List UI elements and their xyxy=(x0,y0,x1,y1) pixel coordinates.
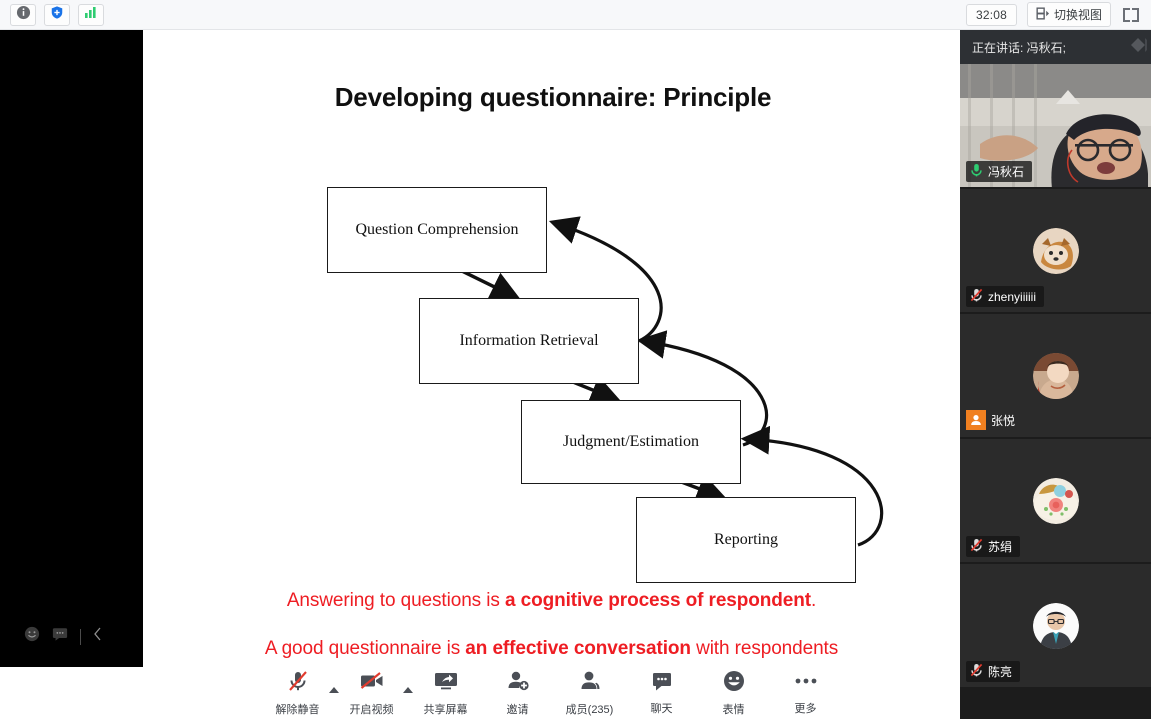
participant-name: 陈亮 xyxy=(988,663,1012,680)
statement-2-emphasis: an effective conversation xyxy=(465,638,691,659)
avatar xyxy=(1033,228,1079,274)
participant-tile[interactable]: 张悦 xyxy=(960,314,1151,439)
diagram-box-question-comprehension: Question Comprehension xyxy=(327,187,547,273)
cognitive-process-diagram: Question Comprehension Information Retri… xyxy=(243,145,943,565)
statement-1-emphasis: a cognitive process of respondent xyxy=(505,590,811,611)
chat-bubble-icon xyxy=(650,670,674,697)
avatar xyxy=(1033,353,1079,399)
microphone-unmuted-icon xyxy=(970,163,983,180)
microphone-muted-icon xyxy=(970,538,983,555)
reactions-button[interactable]: 表情 xyxy=(698,667,770,719)
zoom-meeting-window: 32:08 切换视图 xyxy=(0,0,1151,719)
security-button[interactable] xyxy=(44,4,70,26)
invite-person-icon xyxy=(506,669,530,698)
participants-label: 成员(235) xyxy=(566,701,614,717)
share-screen-label: 共享屏幕 xyxy=(424,701,468,717)
participant-tile[interactable]: 苏绢 xyxy=(960,439,1151,564)
meeting-stage: Developing questionnaire: Principle xyxy=(0,30,960,719)
smiley-icon xyxy=(722,669,746,698)
video-side-strip xyxy=(0,30,143,667)
invite-label: 邀请 xyxy=(507,701,529,717)
info-button[interactable] xyxy=(10,4,36,26)
collapse-panel-icon[interactable] xyxy=(1121,34,1147,60)
host-person-icon xyxy=(966,410,986,430)
unmute-label: 解除静音 xyxy=(276,701,320,717)
participant-tile[interactable]: zhenyiiiiii xyxy=(960,189,1151,314)
more-label: 更多 xyxy=(795,700,817,716)
share-screen-button[interactable]: 共享屏幕 xyxy=(410,667,482,719)
reactions-label: 表情 xyxy=(723,701,745,717)
statement-1-prefix: Answering to questions is xyxy=(287,590,505,611)
participant-name-badge: 张悦 xyxy=(966,408,1023,432)
active-speaker-label: 正在讲话: 冯秋石; xyxy=(972,39,1066,56)
more-button[interactable]: 更多 xyxy=(770,667,842,719)
info-icon xyxy=(16,5,31,25)
participant-tile[interactable]: 冯秋石 xyxy=(960,64,1151,189)
exit-fullscreen-icon[interactable] xyxy=(1121,6,1141,24)
meeting-timer: 32:08 xyxy=(966,4,1017,26)
chat-label: 聊天 xyxy=(651,700,673,716)
invite-button[interactable]: 邀请 xyxy=(482,667,554,719)
participant-name: zhenyiiiiii xyxy=(988,290,1036,304)
unmute-button[interactable]: 解除静音 xyxy=(262,667,334,719)
window-topbar: 32:08 切换视图 xyxy=(0,0,1151,30)
emoji-icon[interactable] xyxy=(24,626,40,647)
topbar-right-controls: 32:08 切换视图 xyxy=(966,2,1151,27)
statement-2-prefix: A good questionnaire is xyxy=(265,638,465,659)
page-title: Developing questionnaire: Principle xyxy=(203,82,903,113)
meeting-toolbar: 解除静音 开启视频 xyxy=(143,667,960,719)
participants-icon xyxy=(578,669,602,698)
active-speaker-bar: 正在讲话: 冯秋石; xyxy=(960,30,1151,64)
network-status-button[interactable] xyxy=(78,4,104,26)
camera-off-icon xyxy=(359,669,385,698)
participants-button[interactable]: 成员(235) xyxy=(554,667,626,719)
share-screen-icon xyxy=(433,669,459,698)
network-bars-icon xyxy=(84,6,98,24)
participant-name: 冯秋石 xyxy=(988,163,1024,180)
avatar xyxy=(1033,478,1079,524)
slide-statement-1: Answering to questions is a cognitive pr… xyxy=(143,590,960,612)
participant-name-badge: zhenyiiiiii xyxy=(966,286,1044,307)
switch-view-button[interactable]: 切换视图 xyxy=(1027,2,1111,27)
more-dots-icon xyxy=(793,670,819,697)
participant-name: 苏绢 xyxy=(988,538,1012,555)
avatar xyxy=(1033,603,1079,649)
statement-2-suffix: with respondents xyxy=(691,638,838,659)
diagram-box-information-retrieval: Information Retrieval xyxy=(419,298,639,384)
participant-name: 张悦 xyxy=(991,412,1015,429)
start-video-button[interactable]: 开启视频 xyxy=(336,667,408,719)
shared-slide: Developing questionnaire: Principle xyxy=(143,30,960,667)
participant-name-badge: 冯秋石 xyxy=(966,161,1032,182)
participant-name-badge: 苏绢 xyxy=(966,536,1020,557)
participant-name-badge: 陈亮 xyxy=(966,661,1020,682)
start-video-label: 开启视频 xyxy=(350,701,394,717)
participant-tile[interactable]: 陈亮 xyxy=(960,564,1151,689)
microphone-muted-icon xyxy=(970,663,983,680)
diagram-box-reporting: Reporting xyxy=(636,497,856,583)
topbar-left-buttons xyxy=(0,4,104,26)
switch-view-icon xyxy=(1036,7,1049,23)
chat-icon[interactable] xyxy=(52,627,68,646)
participants-filmstrip: 正在讲话: 冯秋石; xyxy=(960,30,1151,719)
microphone-muted-icon xyxy=(970,288,983,305)
switch-view-label: 切换视图 xyxy=(1054,6,1102,23)
slide-statement-2: A good questionnaire is an effective con… xyxy=(143,638,960,660)
strip-divider xyxy=(80,629,81,645)
chat-button[interactable]: 聊天 xyxy=(626,667,698,719)
security-shield-icon xyxy=(50,5,64,25)
diagram-box-judgment-estimation: Judgment/Estimation xyxy=(521,400,741,484)
statement-1-suffix: . xyxy=(811,590,816,611)
strip-floating-tools xyxy=(24,626,103,647)
microphone-muted-icon xyxy=(286,669,310,698)
chevron-left-icon[interactable] xyxy=(93,627,103,646)
